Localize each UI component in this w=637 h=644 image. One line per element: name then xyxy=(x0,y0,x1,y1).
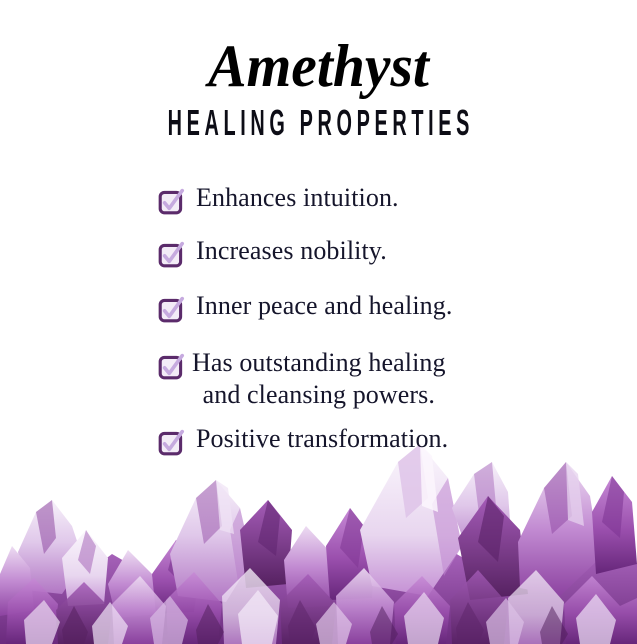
poster-header: Amethyst HEALING PROPERTIES xyxy=(0,0,637,136)
list-item: Inner peace and healing. xyxy=(0,290,637,323)
page-title: Amethyst xyxy=(13,0,625,96)
list-item-label: Has outstanding healing and cleansing po… xyxy=(192,347,446,410)
checked-checkbox-icon xyxy=(158,242,184,268)
healing-properties-list: Enhances intuition. Increases nobility. … xyxy=(0,182,637,456)
list-item-label: Enhances intuition. xyxy=(196,182,399,214)
page-subtitle: HEALING PROPERTIES xyxy=(121,96,516,141)
checked-checkbox-icon xyxy=(158,430,184,456)
list-item: Positive transformation. xyxy=(0,423,637,456)
checked-checkbox-icon xyxy=(158,297,184,323)
checked-checkbox-icon xyxy=(158,189,184,215)
checked-checkbox-icon xyxy=(158,354,184,380)
list-item-label: Inner peace and healing. xyxy=(196,290,452,322)
list-item-label: Increases nobility. xyxy=(196,235,387,267)
amethyst-crystal-cluster-photo xyxy=(0,434,637,644)
list-item-label: Positive transformation. xyxy=(196,423,448,455)
amethyst-healing-properties-poster: Amethyst HEALING PROPERTIES Enhances int… xyxy=(0,0,637,644)
list-item: Increases nobility. xyxy=(0,235,637,268)
list-item: Enhances intuition. xyxy=(0,182,637,215)
list-item: Has outstanding healing and cleansing po… xyxy=(0,347,637,410)
